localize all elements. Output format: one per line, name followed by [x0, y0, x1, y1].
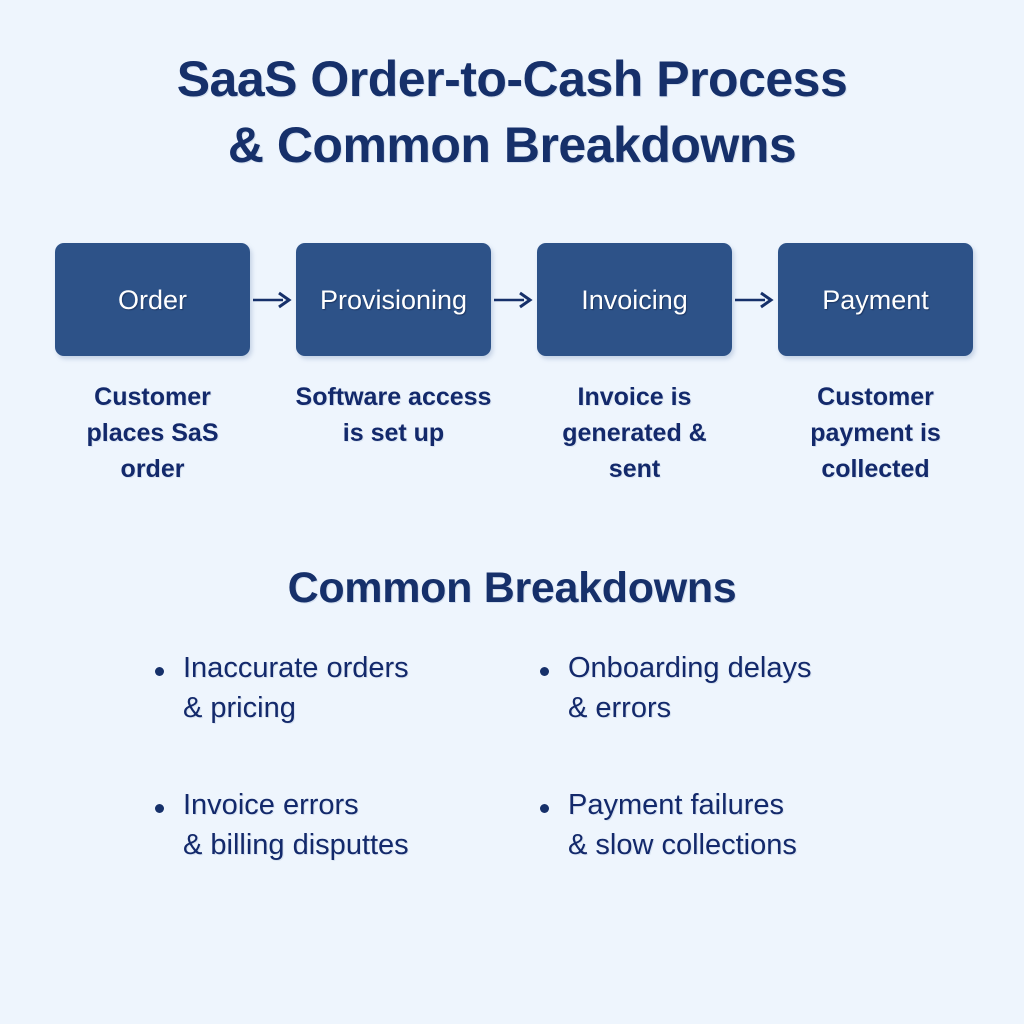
breakdown-item-line-1: Onboarding delays [568, 652, 811, 684]
list-item: Onboarding delays & errors [540, 648, 915, 728]
breakdown-item-line-1: Inaccurate orders [183, 652, 409, 684]
bullet-dot-icon [155, 667, 164, 676]
arrow-right-icon-3 [732, 243, 778, 356]
flow-step-invoicing: Invoicing Invoice is generated & sent [537, 243, 732, 487]
breakdown-item-text: Inaccurate orders & pricing [183, 648, 409, 728]
flow-step-box-order: Order [55, 243, 250, 356]
flow-step-label-payment: Payment [816, 285, 935, 315]
flow-step-box-provisioning: Provisioning [296, 243, 491, 356]
breakdowns-list: Inaccurate orders & pricing Onboarding d… [155, 648, 915, 865]
breakdown-item-text: Onboarding delays & errors [568, 648, 811, 728]
list-item: Invoice errors & billing disputtes [155, 785, 540, 865]
bullet-dot-icon [540, 667, 549, 676]
flow-step-caption-payment: Customer payment is collected [776, 379, 976, 487]
breakdowns-heading: Common Breakdowns [0, 560, 1024, 616]
breakdown-item-line-1: Invoice errors [183, 789, 359, 821]
flow-step-provisioning: Provisioning Software access is set up [296, 243, 491, 451]
arrow-right-icon-2 [491, 243, 537, 356]
flow-step-box-payment: Payment [778, 243, 973, 356]
flow-step-order: Order Customer places SaS order [55, 243, 250, 487]
flow-step-caption-invoicing: Invoice is generated & sent [535, 379, 735, 487]
flow-step-label-invoicing: Invoicing [575, 285, 694, 315]
breakdown-item-line-2: & slow collections [568, 829, 797, 861]
page-title-line-1: SaaS Order-to-Cash Process [0, 46, 1024, 112]
flow-step-caption-provisioning: Software access is set up [294, 379, 494, 451]
page-title-line-2: & Common Breakdowns [0, 112, 1024, 178]
breakdown-item-line-1: Payment failures [568, 789, 784, 821]
list-item: Payment failures & slow collections [540, 785, 915, 865]
page-title: SaaS Order-to-Cash Process & Common Brea… [0, 46, 1024, 178]
breakdown-item-line-2: & errors [568, 692, 671, 724]
breakdown-item-line-2: & billing disputtes [183, 829, 409, 861]
bullet-dot-icon [155, 804, 164, 813]
arrow-right-icon-1 [250, 243, 296, 356]
flow-step-label-order: Order [112, 285, 193, 315]
flow-step-caption-order: Customer places SaS order [53, 379, 253, 487]
bullet-dot-icon [540, 804, 549, 813]
flow-step-payment: Payment Customer payment is collected [778, 243, 973, 487]
breakdown-item-text: Payment failures & slow collections [568, 785, 797, 865]
breakdown-item-line-2: & pricing [183, 692, 296, 724]
process-flow: Order Customer places SaS order Provisio… [55, 243, 969, 487]
breakdown-item-text: Invoice errors & billing disputtes [183, 785, 409, 865]
flow-step-box-invoicing: Invoicing [537, 243, 732, 356]
flow-step-label-provisioning: Provisioning [314, 285, 473, 315]
list-item: Inaccurate orders & pricing [155, 648, 540, 728]
